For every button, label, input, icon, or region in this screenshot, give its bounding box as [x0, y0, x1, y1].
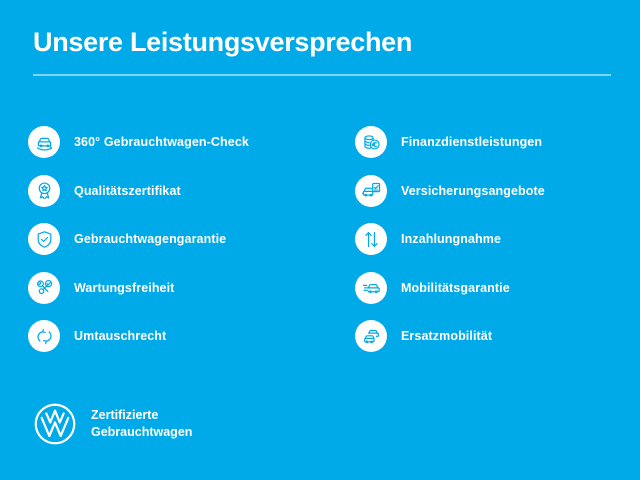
promise-label: Inzahlungnahme: [401, 232, 501, 246]
promise-label: Mobilitätsgarantie: [401, 281, 510, 295]
page-title: Unsere Leistungsversprechen: [33, 28, 611, 58]
promise-item-replacement-mobility[interactable]: Ersatzmobilität: [355, 312, 640, 361]
promise-item-quality-certificate[interactable]: Qualitätszertifikat: [28, 167, 355, 216]
car-360-check-icon: [28, 126, 60, 158]
promise-label: Umtauschrecht: [74, 329, 166, 343]
promise-label: Gebrauchtwagengarantie: [74, 232, 226, 246]
promise-item-mobility-guarantee[interactable]: Mobilitätsgarantie: [355, 264, 640, 313]
promise-label: Qualitätszertifikat: [74, 184, 181, 198]
car-motion-icon: [355, 272, 387, 304]
brand-text-line2: Gebrauchtwagen: [91, 424, 192, 441]
promise-item-exchange-right[interactable]: Umtauschrecht: [28, 312, 355, 361]
exchange-arrows-icon: [28, 320, 60, 352]
promise-label: Ersatzmobilität: [401, 329, 492, 343]
promises-column-left: 360° Gebrauchtwagen-Check Qualitätszerti…: [28, 118, 355, 361]
promises-grid: 360° Gebrauchtwagen-Check Qualitätszerti…: [0, 118, 640, 361]
promise-item-trade-in[interactable]: Inzahlungnahme: [355, 215, 640, 264]
car-document-icon: [355, 175, 387, 207]
promise-item-360-check[interactable]: 360° Gebrauchtwagen-Check: [28, 118, 355, 167]
promise-label: Versicherungsangebote: [401, 184, 545, 198]
promise-label: Wartungsfreiheit: [74, 281, 174, 295]
promise-label: Finanzdienstleistungen: [401, 135, 542, 149]
two-cars-icon: [355, 320, 387, 352]
promise-item-maintenance-free[interactable]: Wartungsfreiheit: [28, 264, 355, 313]
promise-item-financial-services[interactable]: Finanzdienstleistungen: [355, 118, 640, 167]
brand-text: Zertifizierte Gebrauchtwagen: [91, 407, 192, 441]
wrench-check-icon: [28, 272, 60, 304]
shield-check-icon: [28, 223, 60, 255]
brand-text-line1: Zertifizierte: [91, 407, 192, 424]
promise-item-insurance-offers[interactable]: Versicherungsangebote: [355, 167, 640, 216]
promises-column-right: Finanzdienstleistungen Versicheru: [355, 118, 640, 361]
promise-item-warranty[interactable]: Gebrauchtwagengarantie: [28, 215, 355, 264]
slide-canvas: Unsere Leistungsversprechen 360° Gebrauc: [0, 0, 640, 480]
promise-label: 360° Gebrauchtwagen-Check: [74, 135, 249, 149]
coins-euro-icon: [355, 126, 387, 158]
up-down-arrows-icon: [355, 223, 387, 255]
vw-logo-icon: [33, 402, 77, 446]
award-rosette-icon: [28, 175, 60, 207]
title-divider: [33, 74, 611, 76]
brand-lockup: Zertifizierte Gebrauchtwagen: [33, 402, 192, 446]
header: Unsere Leistungsversprechen: [33, 28, 611, 76]
